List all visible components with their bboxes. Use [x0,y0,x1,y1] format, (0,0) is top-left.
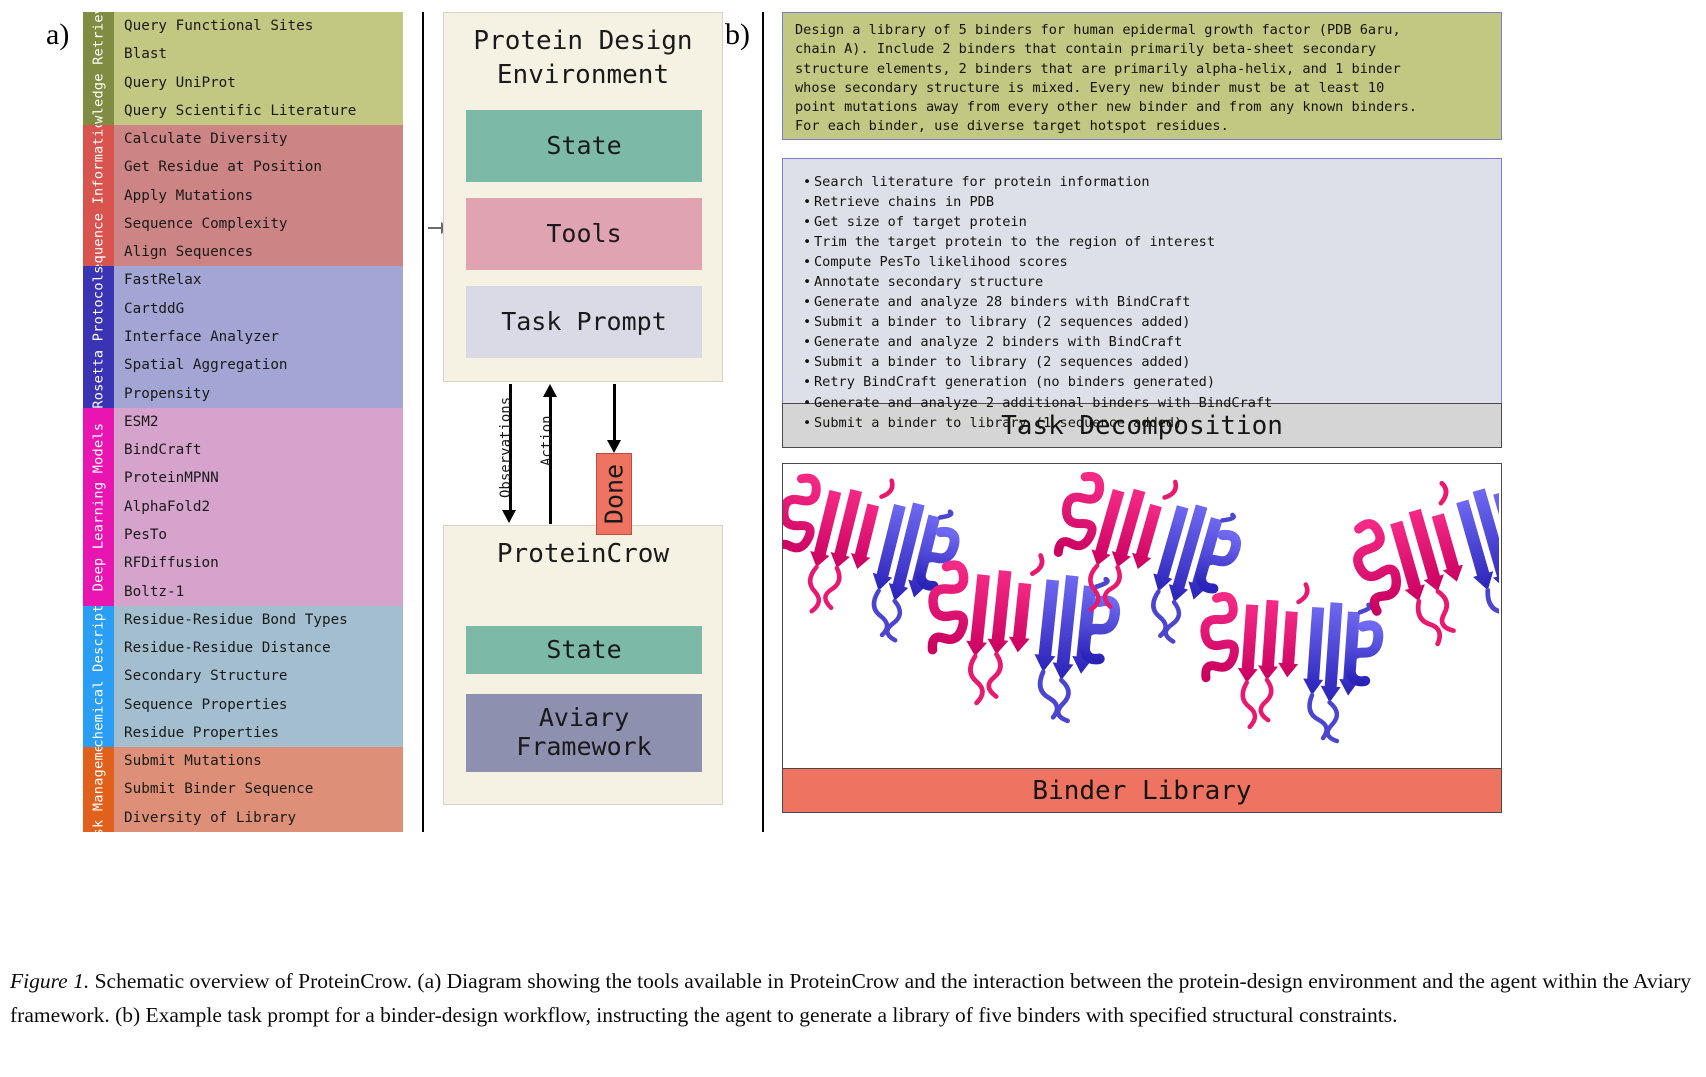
tool-row[interactable]: Submit Binder Sequence [114,775,403,803]
tool-group-label: Biochemical Descriptors [83,606,114,747]
task-prompt-box: Design a library of 5 binders for human … [782,12,1502,140]
tool-row[interactable]: CartddG [114,295,403,323]
done-arrow-line [613,384,616,442]
tool-group-rows: Calculate DiversityGet Residue at Positi… [114,125,403,266]
tool-group: Deep Learning ModelsESM2BindCraftProtein… [83,408,403,606]
binder-library-panel: Binder Library [782,463,1502,813]
observations-arrowhead-icon [502,510,516,523]
tool-group-rows: Query Functional SitesBlastQuery UniProt… [114,12,403,125]
tool-group-label-text: Deep Learning Models [92,423,106,592]
tool-category-table: Knowledge RetrievalQuery Functional Site… [83,12,403,832]
environment-task-prompt-slot: Task Prompt [466,286,702,358]
tool-group-label-text: Sequence Informatics [92,125,106,266]
tool-row[interactable]: Interface Analyzer [114,323,403,351]
tool-group-label-text: Task Management [92,747,106,832]
binder-library-structure-canvas [782,463,1502,768]
task-decomposition-step: Retrieve chains in PDB [803,192,1491,212]
tool-row[interactable]: Residue-Residue Distance [114,634,403,662]
binder-complex-structures-illustration [783,464,1499,766]
tool-group-label-text: Rosetta Protocols [92,266,106,407]
tool-group-label: Rosetta Protocols [83,266,114,407]
tool-group: Sequence InformaticsCalculate DiversityG… [83,125,403,266]
task-decomposition-step: Search literature for protein informatio… [803,172,1491,192]
done-badge: Done [596,453,632,535]
panel-b-letter: b) [725,18,750,52]
tool-row[interactable]: Residue Properties [114,719,403,747]
tool-row[interactable]: ESM2 [114,408,403,436]
tool-row[interactable]: ProteinMPNN [114,464,403,492]
tool-row[interactable]: Sequence Properties [114,691,403,719]
done-arrowhead-icon [607,440,621,453]
tool-group-label: Sequence Informatics [83,125,114,266]
tool-row[interactable]: Boltz-1 [114,578,403,606]
tool-row[interactable]: AlphaFold2 [114,493,403,521]
figure-caption: Figure 1. Schematic overview of ProteinC… [10,965,1700,1033]
environment-title: Protein Design Environment [444,13,722,93]
task-decomposition-step-list: Search literature for protein informatio… [782,158,1502,403]
tool-row[interactable]: Diversity of Library [114,804,403,832]
task-decomposition-step: Trim the target protein to the region of… [803,232,1491,252]
panel-a-letter: a) [46,18,69,52]
task-decomposition-step: Retry BindCraft generation (no binders g… [803,372,1491,392]
tool-row[interactable]: Sequence Complexity [114,210,403,238]
figure-caption-number: Figure 1. [10,969,89,993]
action-arrow-label: Action [539,415,555,466]
tool-group-rows: FastRelaxCartddGInterface AnalyzerSpatia… [114,266,403,407]
environment-state-slot: State [466,110,702,182]
figure-1: a) b) Knowledge RetrievalQuery Functiona… [0,0,1706,1077]
done-badge-label: Done [600,464,629,524]
tool-row[interactable]: Apply Mutations [114,182,403,210]
tool-group-rows: Residue-Residue Bond TypesResidue-Residu… [114,606,403,747]
tool-row[interactable]: Get Residue at Position [114,153,403,181]
tool-row[interactable]: Align Sequences [114,238,403,266]
tool-group-label-text: Knowledge Retrieval [92,12,106,125]
agent-aviary-framework-slot: Aviary Framework [466,694,702,772]
observations-arrow-label: Observations [498,397,514,498]
task-decomposition-step: Generate and analyze 2 binders with Bind… [803,332,1491,352]
tool-row[interactable]: RFDiffusion [114,549,403,577]
agent-title: ProteinCrow [444,526,722,572]
binder-library-caption: Binder Library [782,768,1502,813]
tool-group-label: Knowledge Retrieval [83,12,114,125]
tool-group: Biochemical DescriptorsResidue-Residue B… [83,606,403,747]
tool-group: Rosetta ProtocolsFastRelaxCartddGInterfa… [83,266,403,407]
agent-state-slot: State [466,626,702,674]
task-decomposition-step: Annotate secondary structure [803,272,1491,292]
task-prompt-text: Design a library of 5 binders for human … [795,21,1491,137]
task-decomposition-step: Submit a binder to library (2 sequences … [803,352,1491,372]
tool-row[interactable]: Blast [114,40,403,68]
binder-complex-4 [1198,578,1382,744]
tool-row[interactable]: Spatial Aggregation [114,351,403,379]
tool-row[interactable]: PesTo [114,521,403,549]
task-decomposition-panel: Search literature for protein informatio… [782,158,1502,448]
tool-row[interactable]: Propensity [114,380,403,408]
proteincrow-agent-box: ProteinCrow State Aviary Framework [443,525,723,805]
binder-complex-5 [1343,464,1499,667]
tool-row[interactable]: FastRelax [114,266,403,294]
tool-group-label-text: Biochemical Descriptors [92,606,106,747]
task-decomposition-step: Compute PesTo likelihood scores [803,252,1491,272]
task-decomposition-step: Submit a binder to library (2 sequences … [803,312,1491,332]
tool-row[interactable]: Query Functional Sites [114,12,403,40]
protein-design-environment-box: Protein Design Environment State Tools T… [443,12,723,382]
panel-divider-left [422,12,424,832]
tool-group-rows: ESM2BindCraftProteinMPNNAlphaFold2PesToR… [114,408,403,606]
tool-row[interactable]: Submit Mutations [114,747,403,775]
tool-row[interactable]: BindCraft [114,436,403,464]
tool-group: Task ManagementSubmit MutationsSubmit Bi… [83,747,403,832]
environment-tools-slot: Tools [466,198,702,270]
tool-row[interactable]: Calculate Diversity [114,125,403,153]
tool-row[interactable]: Residue-Residue Bond Types [114,606,403,634]
task-decomposition-step: Get size of target protein [803,212,1491,232]
tool-row[interactable]: Secondary Structure [114,662,403,690]
binder-complex-1 [783,464,965,648]
task-decomposition-step: Generate and analyze 28 binders with Bin… [803,292,1491,312]
tool-row[interactable]: Query UniProt [114,69,403,97]
tool-group-rows: Submit MutationsSubmit Binder SequenceDi… [114,747,403,832]
tool-row[interactable]: Query Scientific Literature [114,97,403,125]
tool-group-label: Deep Learning Models [83,408,114,606]
panel-divider-right [762,12,764,832]
tool-group-label: Task Management [83,747,114,832]
figure-caption-text: Schematic overview of ProteinCrow. (a) D… [10,969,1691,1027]
tool-group: Knowledge RetrievalQuery Functional Site… [83,12,403,125]
action-arrowhead-icon [543,384,557,397]
